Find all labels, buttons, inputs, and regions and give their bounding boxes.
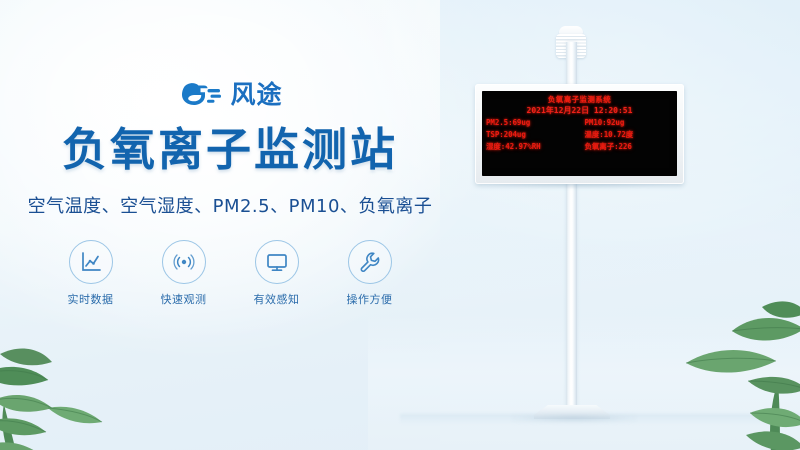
feature-icon-wrapper xyxy=(162,240,206,284)
radar-signal-icon xyxy=(172,250,196,274)
led-reading-temperature: 温度:10.72度 xyxy=(581,130,674,140)
led-reading-humidity: 湿度:42.97%RH xyxy=(486,142,579,152)
ground-area xyxy=(368,315,800,450)
feature-label: 实时数据 xyxy=(58,291,124,307)
brand-name: 风途 xyxy=(230,80,282,110)
monitor-screen-icon xyxy=(265,250,289,274)
feature-label: 快速观测 xyxy=(151,291,217,307)
brand-logo: 风途 xyxy=(0,78,460,112)
pole-flange-base xyxy=(534,405,610,419)
led-content: 负氧离子监测系统 2021年12月22日 12:20:51 PM2.5:69ug… xyxy=(482,95,677,152)
wind-cloud-logo-icon xyxy=(177,80,223,110)
feature-icon-wrapper xyxy=(255,240,299,284)
feature-list: 实时数据 快速观测 xyxy=(0,240,460,307)
led-display-panel[interactable]: 负氧离子监测系统 2021年12月22日 12:20:51 PM2.5:69ug… xyxy=(475,84,684,184)
led-reading-pm10: PM10:92ug xyxy=(581,118,674,128)
feature-item-easy-operation[interactable]: 操作方便 xyxy=(337,240,403,307)
sensor-neck xyxy=(567,57,575,73)
led-datetime: 2021年12月22日 12:20:51 xyxy=(482,105,677,116)
line-chart-icon xyxy=(79,250,103,274)
led-reading-negative-ion: 负氧离子:226 xyxy=(581,142,674,152)
page-title: 负氧离子监测站 xyxy=(0,123,460,176)
feature-icon-wrapper xyxy=(348,240,392,284)
led-reading-tsp: TSP:204ug xyxy=(486,130,579,140)
wrench-icon xyxy=(358,250,382,274)
sky-gradient xyxy=(440,0,800,450)
ground-horizon-line xyxy=(400,414,800,424)
feature-label: 有效感知 xyxy=(244,291,310,307)
feature-item-effective-sensing[interactable]: 有效感知 xyxy=(244,240,310,307)
louvered-radiation-shield xyxy=(553,26,589,70)
hero-text-column: 风途 负氧离子监测站 空气温度、空气湿度、PM2.5、PM10、负氧离子 实时数… xyxy=(0,78,460,307)
green-leaf-plant-left xyxy=(0,304,132,450)
led-readings-grid: PM2.5:69ug PM10:92ug TSP:204ug 温度:10.72度… xyxy=(482,118,677,152)
led-screen: 负氧离子监测系统 2021年12月22日 12:20:51 PM2.5:69ug… xyxy=(482,91,677,176)
sensor-louvers xyxy=(556,34,586,58)
pole-base-shadow xyxy=(512,414,636,423)
feature-item-fast-observation[interactable]: 快速观测 xyxy=(151,240,217,307)
sensor-cap xyxy=(559,26,583,35)
feature-icon-wrapper xyxy=(69,240,113,284)
feature-label: 操作方便 xyxy=(337,291,403,307)
green-leaf-plant-right xyxy=(676,285,800,450)
led-title: 负氧离子监测系统 xyxy=(482,95,677,105)
led-reading-pm25: PM2.5:69ug xyxy=(486,118,579,128)
hero-subtitle: 空气温度、空气湿度、PM2.5、PM10、负氧离子 xyxy=(0,192,460,218)
feature-item-realtime-data[interactable]: 实时数据 xyxy=(58,240,124,307)
poster-background: 风途 负氧离子监测站 空气温度、空气湿度、PM2.5、PM10、负氧离子 实时数… xyxy=(0,0,800,450)
